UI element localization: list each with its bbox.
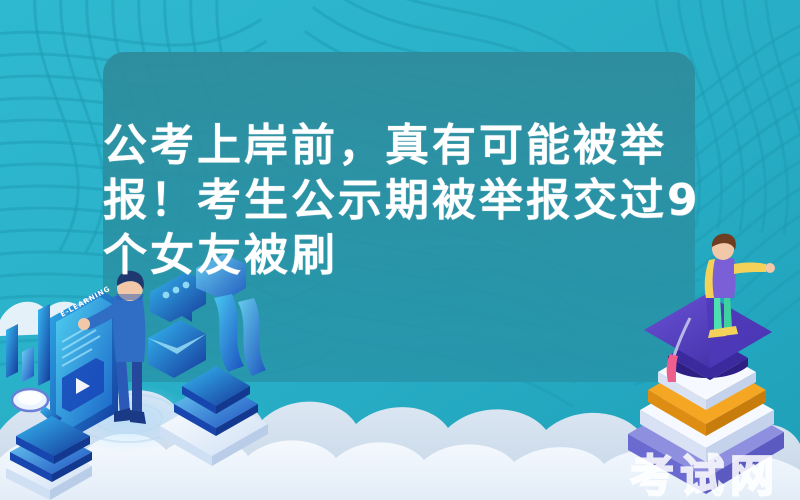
illustration-layer: E-LEARNING [0,0,800,500]
wave-ribbon [214,294,266,376]
envelope-icon [148,320,206,378]
illustration-right [628,234,784,494]
banner-canvas: E-LEARNING [0,0,800,500]
